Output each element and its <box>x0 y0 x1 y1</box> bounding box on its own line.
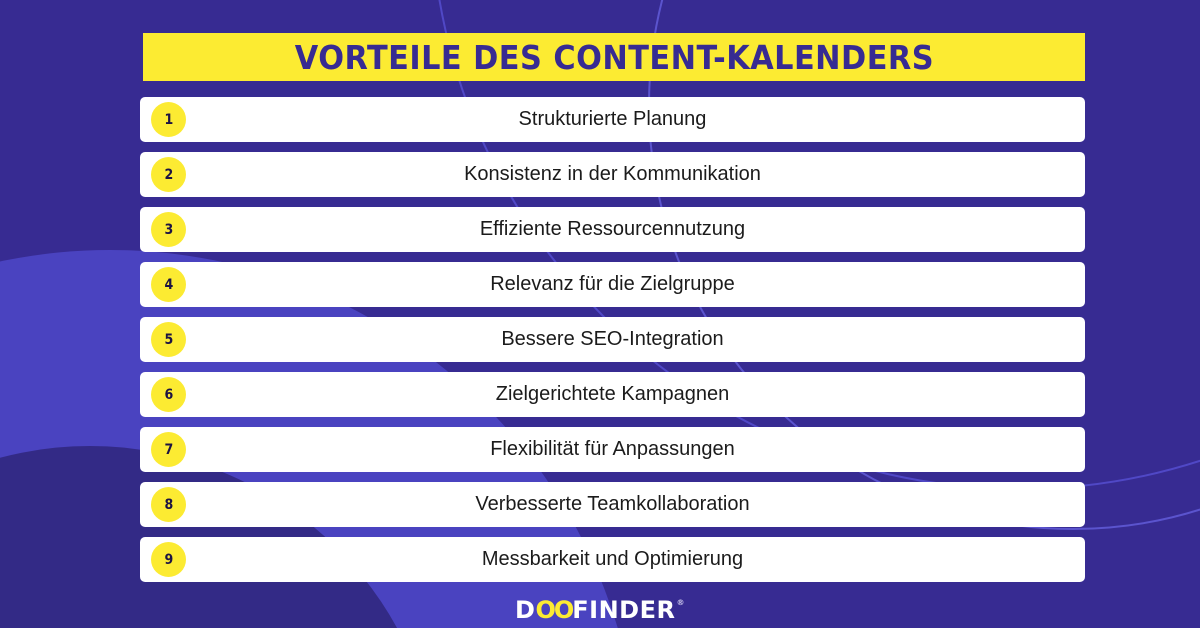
item-label: Zielgerichtete Kampagnen <box>140 383 1085 406</box>
list-item: 8 Verbesserte Teamkollaboration <box>140 482 1085 527</box>
item-label: Relevanz für die Zielgruppe <box>140 273 1085 296</box>
page-title: VORTEILE DES CONTENT-KALENDERS <box>294 38 933 77</box>
item-number-badge: 4 <box>151 267 186 302</box>
item-label: Flexibilität für Anpassungen <box>140 438 1085 461</box>
footer: D OO FINDER ® <box>0 592 1200 628</box>
item-label: Konsistenz in der Kommunikation <box>140 163 1085 186</box>
item-number-badge: 9 <box>151 542 186 577</box>
list-item: 5 Bessere SEO-Integration <box>140 317 1085 362</box>
item-number-badge: 6 <box>151 377 186 412</box>
infographic-poster: VORTEILE DES CONTENT-KALENDERS 1 Struktu… <box>0 0 1200 628</box>
item-number-badge: 3 <box>151 212 186 247</box>
item-label: Messbarkeit und Optimierung <box>140 548 1085 571</box>
list-item: 7 Flexibilität für Anpassungen <box>140 427 1085 472</box>
poster-content: VORTEILE DES CONTENT-KALENDERS 1 Struktu… <box>140 0 1085 628</box>
logo-letter-d: D <box>515 598 535 622</box>
item-label: Strukturierte Planung <box>140 108 1085 131</box>
list-item: 3 Effiziente Ressourcennutzung <box>140 207 1085 252</box>
list-item: 6 Zielgerichtete Kampagnen <box>140 372 1085 417</box>
item-number-badge: 7 <box>151 432 186 467</box>
list-item: 1 Strukturierte Planung <box>140 97 1085 142</box>
logo-letters-oo: OO <box>535 598 572 622</box>
list-item: 4 Relevanz für die Zielgruppe <box>140 262 1085 307</box>
list-item: 2 Konsistenz in der Kommunikation <box>140 152 1085 197</box>
benefits-list: 1 Strukturierte Planung 2 Konsistenz in … <box>140 97 1085 592</box>
item-number-badge: 1 <box>151 102 186 137</box>
item-number-badge: 8 <box>151 487 186 522</box>
item-number-badge: 5 <box>151 322 186 357</box>
logo-letters-finder: FINDER <box>572 598 675 622</box>
item-number: 4 <box>164 278 173 292</box>
item-number: 2 <box>164 168 173 182</box>
item-number-badge: 2 <box>151 157 186 192</box>
item-number: 5 <box>164 333 173 347</box>
doofinder-logo: D OO FINDER ® <box>515 598 685 622</box>
item-label: Verbesserte Teamkollaboration <box>140 493 1085 516</box>
item-number: 7 <box>164 443 173 457</box>
item-number: 6 <box>164 388 173 402</box>
item-label: Bessere SEO-Integration <box>140 328 1085 351</box>
item-number: 9 <box>164 553 173 567</box>
item-number: 1 <box>164 113 173 127</box>
list-item: 9 Messbarkeit und Optimierung <box>140 537 1085 582</box>
title-banner: VORTEILE DES CONTENT-KALENDERS <box>143 33 1085 81</box>
item-number: 3 <box>164 223 173 237</box>
registered-trademark-icon: ® <box>676 599 685 607</box>
item-label: Effiziente Ressourcennutzung <box>140 218 1085 241</box>
item-number: 8 <box>164 498 173 512</box>
